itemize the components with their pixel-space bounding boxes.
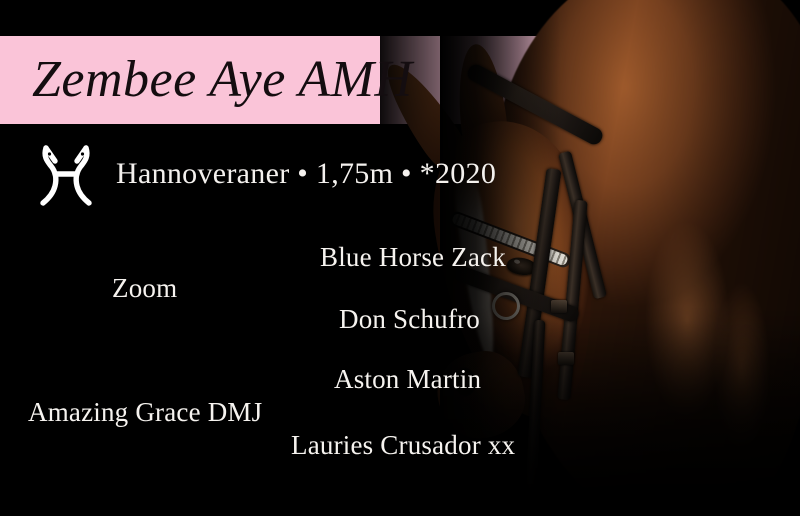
- pedigree-dam-dam: Lauries Crusador xx: [291, 429, 515, 461]
- horse-pedigree-card: Zembee Aye AMH Hannoveraner • 1,75m • *2…: [0, 0, 800, 516]
- pedigree-dam-sire: Aston Martin: [334, 363, 481, 395]
- pedigree-tree: Zoom Blue Horse Zack Don Schufro Amazing…: [0, 0, 800, 516]
- pedigree-sire-dam: Don Schufro: [339, 303, 480, 335]
- pedigree-sire-sire: Blue Horse Zack: [320, 241, 506, 273]
- pedigree-dam: Amazing Grace DMJ: [28, 396, 262, 428]
- pedigree-sire: Zoom: [112, 272, 177, 304]
